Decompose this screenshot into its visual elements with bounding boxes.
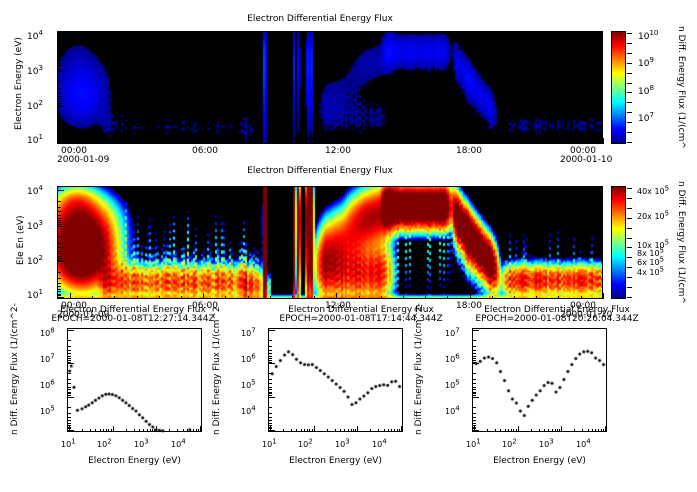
tick-mark [353, 429, 354, 432]
tick-mark [309, 429, 310, 432]
tick-mark [269, 387, 272, 388]
tick-mark [114, 296, 115, 299]
tick-mark [336, 293, 337, 299]
tick-mark [474, 426, 475, 432]
tick-mark [536, 296, 537, 299]
tick-mark [68, 358, 71, 359]
tick-mark [68, 420, 71, 421]
tick-mark [340, 429, 341, 432]
tick-mark [473, 417, 476, 418]
tick-mark [134, 429, 135, 432]
tick-mark [558, 296, 559, 299]
tick-mark [627, 297, 632, 298]
tick-mark [539, 429, 540, 432]
tick-mark [473, 420, 476, 421]
tick-mark [351, 429, 352, 432]
tick-mark [58, 224, 61, 225]
tick-mark [183, 429, 184, 432]
line2-ytick-1: 106 [241, 355, 256, 364]
tick-mark [548, 429, 549, 432]
tick-mark [544, 429, 545, 432]
line2-xtick-1: 102 [298, 440, 313, 449]
spec2-ylabel: Ele En (eV) [16, 215, 26, 265]
tick-mark [58, 134, 61, 135]
tick-mark [388, 429, 389, 432]
tick-mark [627, 73, 632, 74]
tick-mark [68, 373, 71, 374]
tick-mark [159, 296, 160, 299]
tick-mark [627, 257, 632, 258]
tick-mark [92, 296, 93, 299]
tick-mark [473, 413, 476, 414]
tick-mark [627, 267, 632, 268]
tick-mark [348, 429, 349, 432]
tick-mark [187, 429, 188, 432]
tick-mark [143, 429, 144, 432]
tick-mark [269, 373, 272, 374]
tick-mark [627, 63, 632, 64]
tick-mark [381, 141, 382, 144]
tick-mark [58, 256, 61, 257]
tick-mark [68, 387, 71, 388]
tick-mark [106, 429, 107, 432]
tick-mark [269, 363, 275, 364]
spec2-ytick-3: 101 [27, 291, 43, 301]
tick-mark [68, 393, 71, 394]
line3-ytick-2: 105 [445, 381, 460, 390]
tick-mark [58, 218, 61, 219]
tick-mark [269, 340, 272, 341]
tick-mark [581, 141, 582, 144]
tick-mark [627, 238, 632, 239]
tick-mark [473, 363, 479, 364]
line2-ytick-2: 105 [241, 381, 256, 390]
tick-mark [518, 426, 519, 432]
tick-mark [605, 426, 606, 432]
tick-mark [627, 228, 632, 229]
line3-xtick-0: 101 [466, 440, 481, 449]
tick-mark [70, 138, 71, 144]
tick-mark [627, 132, 632, 133]
tick-mark [500, 429, 501, 432]
line1-xtick-2: 103 [134, 440, 149, 449]
line1-epoch: EPOCH=2000-01-08T12:27:14.344Z [28, 314, 238, 324]
tick-mark [58, 101, 61, 102]
tick-mark [627, 218, 632, 219]
tick-mark [514, 141, 515, 144]
tick-mark [58, 243, 61, 244]
tick-mark [114, 141, 115, 144]
tick-mark [225, 141, 226, 144]
line3-xtick-1: 102 [502, 440, 517, 449]
tick-mark [473, 407, 476, 408]
tick-mark [582, 429, 583, 432]
tick-mark [156, 426, 157, 432]
tick-mark [397, 429, 398, 432]
line2-xtick-0: 101 [262, 440, 277, 449]
tick-mark [269, 393, 272, 394]
line3-epoch: EPOCH=2000-01-08T20:26:04.344Z [452, 314, 662, 324]
tick-mark [58, 258, 61, 259]
tick-mark [58, 92, 61, 93]
tick-mark [336, 138, 337, 144]
tick-mark [401, 426, 402, 432]
line3-ytick-1: 106 [445, 355, 460, 364]
tick-mark [58, 60, 61, 61]
line2-epoch: EPOCH=2000-01-08T17:14:44.344Z [256, 314, 466, 324]
line3-xlabel: Electron Energy (eV) [472, 456, 607, 466]
spec2-cbtick-5: 4x 105 [637, 268, 664, 277]
tick-mark [492, 296, 493, 299]
tick-mark [473, 389, 476, 390]
tick-mark [359, 296, 360, 299]
line3-xtick-3: 104 [576, 440, 591, 449]
tick-mark [558, 141, 559, 144]
tick-mark [68, 383, 71, 384]
tick-mark [70, 293, 71, 299]
tick-mark [627, 198, 632, 199]
tick-mark [58, 136, 61, 137]
tick-mark [58, 207, 61, 208]
tick-mark [598, 429, 599, 432]
tick-mark [425, 141, 426, 144]
tick-mark [68, 423, 71, 424]
tick-mark [58, 63, 61, 64]
tick-mark [574, 429, 575, 432]
tick-mark [269, 420, 272, 421]
tick-mark [513, 429, 514, 432]
tick-mark [487, 429, 488, 432]
tick-mark [357, 426, 358, 432]
line2-xlabel: Electron Energy (eV) [268, 456, 403, 466]
tick-mark [581, 296, 582, 299]
spec1-colorbar-frame [611, 31, 626, 144]
tick-mark [147, 429, 148, 432]
tick-mark [58, 117, 61, 118]
tick-mark [296, 429, 297, 432]
line1-ytick-0: 108 [40, 329, 55, 338]
spec1-ytick-2: 102 [27, 102, 43, 112]
spec2-ytick-2: 102 [27, 257, 43, 267]
tick-mark [592, 429, 593, 432]
tick-mark [82, 429, 83, 432]
tick-mark [269, 350, 272, 351]
tick-mark [68, 330, 74, 331]
spec1-ytick-1: 103 [27, 67, 43, 77]
tick-mark [473, 387, 476, 388]
spec1-cbtick-1: 109 [638, 59, 654, 69]
tick-mark [196, 429, 197, 432]
tick-mark [68, 407, 71, 408]
tick-mark [314, 141, 315, 144]
tick-mark [473, 395, 476, 396]
tick-mark [58, 69, 61, 70]
tick-mark [516, 429, 517, 432]
tick-mark [473, 393, 476, 394]
tick-mark [58, 297, 64, 298]
tick-mark [403, 141, 404, 144]
tick-mark [225, 296, 226, 299]
tick-mark [269, 358, 272, 359]
tick-mark [269, 356, 272, 357]
tick-mark [270, 141, 271, 144]
line2-frame [268, 328, 403, 432]
tick-mark [359, 141, 360, 144]
tick-mark [425, 296, 426, 299]
tick-mark [58, 128, 61, 129]
tick-mark [269, 423, 272, 424]
tick-mark [627, 83, 632, 84]
tick-mark [181, 296, 182, 299]
tick-mark [95, 429, 96, 432]
line2-ytick-0: 107 [241, 329, 256, 338]
tick-mark [58, 35, 64, 36]
tick-mark [269, 346, 272, 347]
tick-mark [378, 429, 379, 432]
tick-mark [627, 247, 632, 248]
tick-mark [58, 289, 61, 290]
line1-xtick-1: 102 [97, 440, 112, 449]
tick-mark [58, 295, 61, 296]
line2-ytick-3: 104 [241, 407, 256, 416]
tick-mark [627, 208, 632, 209]
tick-mark [492, 141, 493, 144]
tick-mark [190, 429, 191, 432]
line1-xtick-3: 104 [171, 440, 186, 449]
line1-ytick-2: 106 [40, 381, 55, 390]
tick-mark [58, 106, 64, 107]
tick-mark [473, 423, 476, 424]
spec2-cbtick-0: 40x 105 [637, 187, 669, 196]
tick-mark [90, 429, 91, 432]
tick-mark [68, 360, 71, 361]
tick-mark [111, 429, 112, 432]
tick-mark [152, 429, 153, 432]
tick-mark [595, 429, 596, 432]
tick-mark [473, 379, 476, 380]
tick-mark [304, 429, 305, 432]
tick-mark [248, 296, 249, 299]
tick-mark [92, 141, 93, 144]
spec2-ytick-1: 103 [27, 222, 43, 232]
tick-mark [177, 429, 178, 432]
spec1-xdate-left: 2000-01-09 [57, 155, 109, 165]
tick-mark [314, 296, 315, 299]
tick-mark [312, 429, 313, 432]
tick-mark [58, 71, 64, 72]
tick-mark [403, 296, 404, 299]
tick-mark [269, 395, 272, 396]
tick-mark [473, 360, 476, 361]
tick-mark [394, 429, 395, 432]
tick-mark [627, 102, 632, 103]
tick-mark [159, 141, 160, 144]
tick-mark [511, 429, 512, 432]
tick-mark [508, 429, 509, 432]
tick-mark [470, 138, 471, 144]
tick-mark [555, 429, 556, 432]
tick-mark [269, 407, 272, 408]
tick-mark [181, 141, 182, 144]
tick-mark [283, 429, 284, 432]
tick-mark [58, 81, 61, 82]
tick-mark [154, 429, 155, 432]
tick-mark [307, 429, 308, 432]
tick-mark [269, 379, 272, 380]
tick-mark [68, 363, 74, 364]
tick-mark [269, 330, 275, 331]
tick-mark [588, 429, 589, 432]
tick-mark [627, 112, 632, 113]
tick-mark [108, 429, 109, 432]
tick-mark [399, 429, 400, 432]
tick-mark [58, 247, 61, 248]
tick-mark [58, 142, 64, 143]
spec1-xtick-3: 18:00 [456, 146, 482, 156]
tick-mark [68, 353, 71, 354]
tick-mark [68, 379, 71, 380]
tick-mark [58, 261, 64, 262]
tick-mark [58, 226, 64, 227]
tick-mark [100, 429, 101, 432]
line2-xtick-3: 104 [372, 440, 387, 449]
tick-mark [58, 253, 61, 254]
tick-mark [447, 296, 448, 299]
tick-mark [559, 429, 560, 432]
tick-mark [473, 353, 476, 354]
tick-mark [150, 429, 151, 432]
tick-mark [327, 429, 328, 432]
tick-mark [531, 429, 532, 432]
tick-mark [603, 429, 604, 432]
tick-mark [68, 397, 74, 398]
tick-mark [473, 330, 479, 331]
tick-mark [68, 356, 71, 357]
tick-mark [627, 53, 632, 54]
tick-mark [270, 426, 271, 432]
tick-mark [601, 429, 602, 432]
tick-mark [301, 429, 302, 432]
tick-mark [200, 426, 201, 432]
tick-mark [447, 141, 448, 144]
tick-mark [627, 142, 632, 143]
tick-mark [68, 346, 71, 347]
spec2-cbtick-1: 20x 105 [637, 212, 669, 221]
tick-mark [203, 293, 204, 299]
line2-xtick-2: 103 [335, 440, 350, 449]
tick-mark [103, 429, 104, 432]
tick-mark [473, 358, 476, 359]
spec2-title: Electron Differential Energy Flux [0, 166, 640, 176]
tick-mark [269, 413, 272, 414]
tick-mark [269, 383, 272, 384]
tick-mark [552, 429, 553, 432]
tick-mark [473, 350, 476, 351]
tick-mark [139, 429, 140, 432]
tick-mark [627, 287, 632, 288]
tick-mark [68, 395, 71, 396]
tick-mark [627, 122, 632, 123]
line1-xtick-0: 101 [61, 440, 76, 449]
tick-mark [58, 67, 61, 68]
tick-mark [495, 429, 496, 432]
line1-ytick-3: 105 [40, 407, 55, 416]
tick-mark [58, 236, 61, 237]
tick-mark [58, 65, 61, 66]
line1-xlabel: Electron Energy (eV) [67, 456, 202, 466]
spec1-xtick-2: 12:00 [325, 146, 351, 156]
tick-mark [603, 293, 604, 299]
line3-xtick-2: 103 [539, 440, 554, 449]
line2-ylabel: n Diff. Energy Flux (1/(cm^2- [212, 303, 222, 435]
line1-ytick-1: 107 [40, 355, 55, 364]
tick-mark [58, 283, 61, 284]
line3-ylabel: n Diff. Energy Flux (1/(cm^2- [414, 303, 424, 435]
tick-mark [269, 353, 272, 354]
tick-mark [627, 188, 632, 189]
tick-mark [473, 373, 476, 374]
tick-mark [58, 131, 61, 132]
tick-mark [58, 140, 61, 141]
tick-mark [58, 88, 61, 89]
tick-mark [198, 429, 199, 432]
tick-mark [561, 426, 562, 432]
tick-mark [58, 46, 61, 47]
tick-mark [536, 141, 537, 144]
tick-mark [58, 278, 61, 279]
tick-mark [292, 141, 293, 144]
tick-mark [58, 190, 64, 191]
tick-mark [473, 356, 476, 357]
spec2-colorbar-label: n Diff. Energy Flux (1/(cm^ [676, 181, 686, 304]
spec1-ytick-3: 101 [27, 136, 43, 146]
tick-mark [137, 141, 138, 144]
tick-mark [58, 103, 61, 104]
spec2-colorbar-frame [611, 186, 626, 299]
spec1-cbtick-3: 107 [638, 114, 654, 124]
tick-mark [381, 296, 382, 299]
line1-frame [67, 328, 202, 432]
tick-mark [370, 429, 371, 432]
tick-mark [291, 429, 292, 432]
tick-mark [505, 429, 506, 432]
tick-mark [384, 429, 385, 432]
tick-mark [137, 296, 138, 299]
tick-mark [627, 92, 632, 93]
tick-mark [269, 397, 275, 398]
line1-ylabel: n Diff. Energy Flux (1/(cm^2- [10, 303, 20, 435]
tick-mark [269, 389, 272, 390]
spec1-xtick-1: 06:00 [192, 146, 218, 156]
tick-mark [58, 222, 61, 223]
tick-mark [58, 251, 61, 252]
tick-mark [68, 417, 71, 418]
tick-mark [58, 123, 61, 124]
spec1-cbtick-2: 108 [638, 87, 654, 97]
tick-mark [335, 429, 336, 432]
tick-mark [193, 429, 194, 432]
tick-mark [69, 426, 70, 432]
tick-mark [344, 429, 345, 432]
tick-mark [68, 350, 71, 351]
tick-mark [514, 296, 515, 299]
tick-mark [58, 56, 61, 57]
tick-mark [470, 293, 471, 299]
spec2-frame [57, 186, 603, 299]
tick-mark [557, 429, 558, 432]
tick-mark [126, 429, 127, 432]
tick-mark [473, 397, 479, 398]
